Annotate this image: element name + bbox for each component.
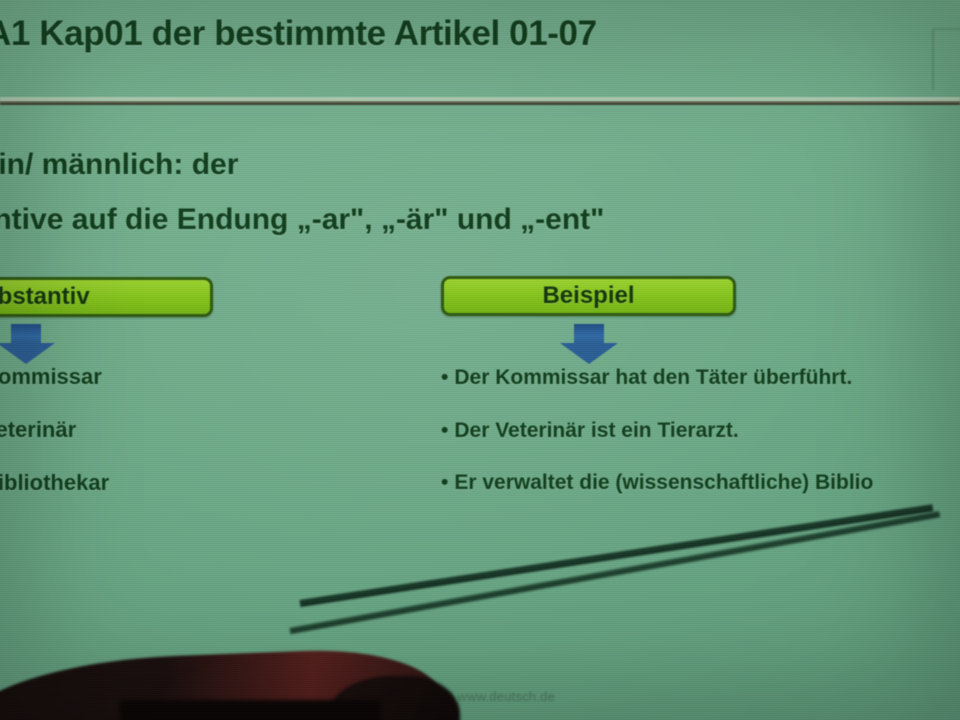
list-item: •Der Kommissar hat den Täter überführt.	[441, 366, 852, 390]
page-title: A1 Kap01 der bestimmte Artikel 01-07	[0, 14, 886, 54]
column-header-substantiv: ubstantiv	[0, 277, 213, 317]
list-item: Bibliothekar	[0, 470, 109, 496]
body-line-gender: kulin/ männlich: der	[0, 148, 238, 182]
list-item-label: Der Kommissar hat den Täter überführt.	[454, 366, 852, 389]
title-divider	[0, 101, 960, 105]
projected-slide: A1 Kap01 der bestimmte Artikel 01-07 kul…	[0, 0, 960, 720]
arrow-shaft	[574, 324, 604, 344]
sheet-edge	[932, 28, 960, 90]
blue-down-arrow-icon	[560, 324, 618, 364]
blue-down-arrow-icon	[0, 324, 55, 364]
list-item: Kommissar	[0, 364, 102, 390]
arrow-shaft	[11, 324, 41, 344]
bullet-glyph: •	[441, 471, 448, 495]
slide-photo-frame: A1 Kap01 der bestimmte Artikel 01-07 kul…	[0, 0, 960, 720]
body-line-endings: stantive auf die Endung „-ar", „-är" und…	[0, 203, 604, 237]
arrow-head	[0, 343, 55, 364]
arrow-head	[560, 343, 618, 364]
list-item-label: Er verwaltet die (wissenschaftliche) Bib…	[454, 471, 873, 494]
list-item-label: Der Veterinär ist ein Tierarzt.	[454, 419, 738, 442]
bullet-glyph: •	[441, 366, 448, 390]
bullet-glyph: •	[441, 419, 448, 443]
column-header-beispiel: Beispiel	[441, 276, 736, 316]
list-item: Veterinär	[0, 417, 76, 443]
list-item: •Der Veterinär ist ein Tierarzt.	[441, 419, 739, 443]
list-item: •Er verwaltet die (wissenschaftliche) Bi…	[441, 471, 873, 495]
foreground-dark-base	[120, 700, 380, 720]
